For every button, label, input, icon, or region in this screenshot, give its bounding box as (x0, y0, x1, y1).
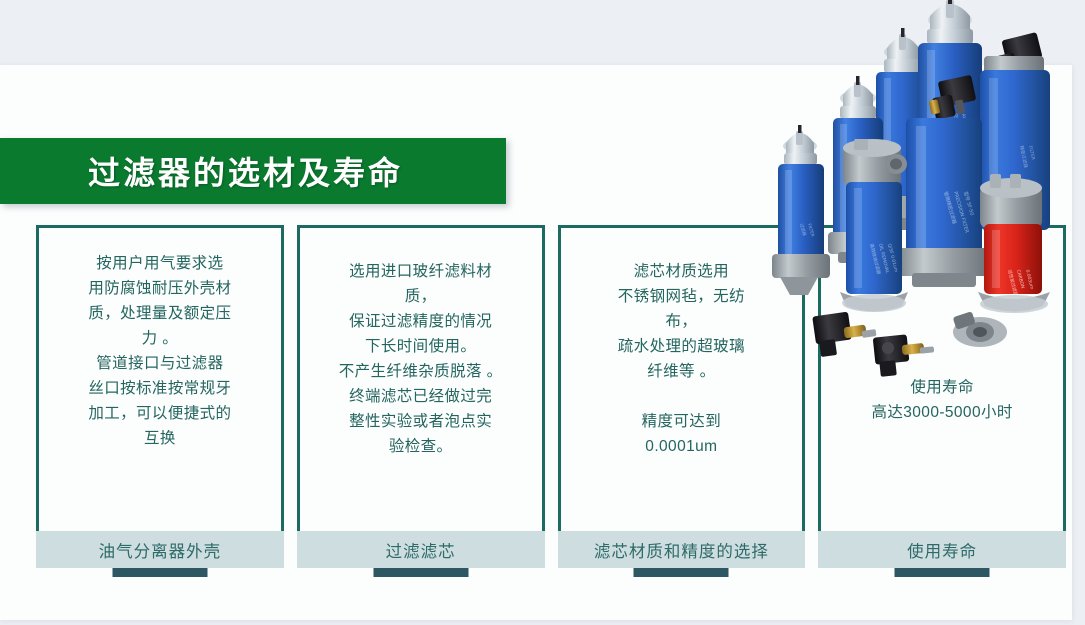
column-body-text: 滤芯材质选用 不锈钢网毡，无纺 布， 疏水处理的超玻璃 纤维等 。 精度可达到 … (618, 259, 745, 459)
column-label: 滤芯材质和精度的选择 (594, 538, 769, 562)
feature-column-2: 选用进口玻纤滤料材 质， 保证过滤精度的情况 下长时间使用。 不产生纤维杂质脱落… (297, 225, 545, 569)
column-body-text: 选用进口玻纤滤料材 质， 保证过滤精度的情况 下长时间使用。 不产生纤维杂质脱落… (339, 259, 503, 459)
column-body-text: 按用户用气要求选 用防腐蚀耐压外壳材 质，处理量及额定压 力 。 管道接口与过滤… (88, 251, 231, 451)
feature-column-4: 使用寿命 高达3000-5000小时 使用寿命 (818, 225, 1066, 569)
page-title-banner: 过滤器的选材及寿命 (0, 138, 506, 204)
column-footer: 使用寿命 (818, 531, 1066, 569)
feature-columns: 按用户用气要求选 用防腐蚀耐压外壳材 质，处理量及额定压 力 。 管道接口与过滤… (36, 225, 1066, 569)
column-footer: 滤芯材质和精度的选择 (558, 531, 806, 569)
column-label-underline (112, 568, 207, 577)
column-label-underline (895, 568, 990, 577)
column-body: 选用进口玻纤滤料材 质， 保证过滤精度的情况 下长时间使用。 不产生纤维杂质脱落… (297, 225, 545, 531)
column-body: 按用户用气要求选 用防腐蚀耐压外壳材 质，处理量及额定压 力 。 管道接口与过滤… (36, 225, 284, 531)
page-title: 过滤器的选材及寿命 (88, 148, 403, 194)
column-label: 过滤滤芯 (386, 538, 456, 562)
column-body-text: 使用寿命 高达3000-5000小时 (871, 375, 1012, 425)
feature-column-1: 按用户用气要求选 用防腐蚀耐压外壳材 质，处理量及额定压 力 。 管道接口与过滤… (36, 225, 284, 569)
feature-column-3: 滤芯材质选用 不锈钢网毡，无纺 布， 疏水处理的超玻璃 纤维等 。 精度可达到 … (558, 225, 806, 569)
column-label-underline (634, 568, 729, 577)
column-body: 使用寿命 高达3000-5000小时 (818, 225, 1066, 531)
column-footer: 过滤滤芯 (297, 531, 545, 569)
column-footer: 油气分离器外壳 (36, 531, 284, 569)
column-label-bar[interactable]: 过滤滤芯 (297, 531, 545, 568)
column-label-bar[interactable]: 滤芯材质和精度的选择 (558, 531, 806, 568)
column-label: 使用寿命 (907, 538, 977, 562)
column-label-underline (373, 568, 468, 577)
column-body: 滤芯材质选用 不锈钢网毡，无纺 布， 疏水处理的超玻璃 纤维等 。 精度可达到 … (558, 225, 806, 531)
column-label: 油气分离器外壳 (99, 538, 222, 562)
column-label-bar[interactable]: 油气分离器外壳 (36, 531, 284, 568)
column-label-bar[interactable]: 使用寿命 (818, 531, 1066, 568)
